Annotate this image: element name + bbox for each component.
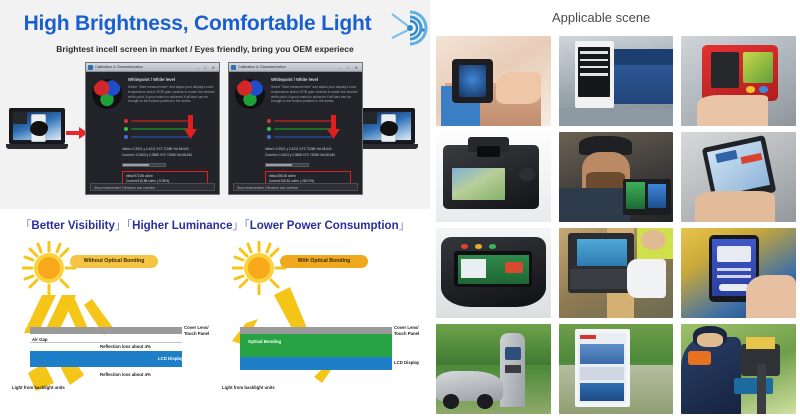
calibration-screenshot-1: Calibration & Characterization ‒ □ ✕ Whi… [85,62,220,195]
label-cover-lens-line1: Cover Lens/ [394,325,419,330]
readout-line-1: Initial x 0.3921 y 0.4211 XYZ 72086 %A 6… [122,147,216,152]
laptop-screen-blob-graphic [380,121,398,136]
diagram-with-optical-bonding: With Optical Bonding Cover Lens/ Touch P… [218,239,423,414]
window-controls: ‒ □ ✕ [340,65,360,70]
benefit-band-titles: 「Better Visibility」「Higher Luminance」「Lo… [0,217,430,233]
air-gap-line [30,342,182,343]
red-slider-bar [131,120,189,122]
red-slider-dot [124,119,128,123]
label-with-optical-bonding: With Optical Bonding [280,255,368,268]
photo-outdoor-digital-signage[interactable] [559,324,674,414]
label-lcd-display: LCD Display [394,360,419,365]
applicable-scene-column: Applicable scene [430,0,800,419]
blue-slider [267,135,333,139]
label-lcd-display: LCD Display [158,356,183,361]
readout-line-2: Current x 0.3403 y 0.3588 XYZ 72086 %A 6… [122,153,216,158]
readout-line-1: Initial x 0.3921 y 0.4211 XYZ 72086 %A 6… [265,147,359,152]
label-optical-bonding: Optical Bonding [248,339,281,344]
benefit-label-higher-luminance: Higher Luminance [132,220,232,232]
page-subtitle: Brightest incell screen in market / Eyes… [0,44,410,54]
sun-icon [22,241,76,295]
laptop-illustration-right [356,108,418,154]
label-cover-lens-line1: Cover Lens/ [184,325,209,330]
label-air-gap: Air Gap [32,337,48,342]
measurement-progress-bar [265,163,309,167]
blue-slider-bar [274,136,332,138]
page-title: High Brightness, Comfortable Light [0,12,395,36]
screenshot-body-text: Select "Start measurement" and adjust yo… [128,85,216,104]
label-reflection-loss-bottom: Reflection loss about 4% [100,372,151,377]
laptop-illustration-left [6,108,68,154]
photo-handheld-thermal-imager[interactable] [681,36,796,126]
optical-bonding-section: 「Better Visibility」「Higher Luminance」「Lo… [0,209,430,419]
label-light-from-backlight: Light from backlight units [222,385,275,390]
photo-surveying-total-station[interactable] [681,324,796,414]
bracket-close-2: 」 [232,220,244,232]
bracket-open-1: 「 [20,220,32,232]
red-slider-bar [274,120,332,122]
green-slider [124,127,190,131]
blue-slider-dot [267,135,271,139]
down-arrow-icon [184,115,197,139]
laptop-base [6,144,68,149]
green-slider-bar [274,128,332,130]
blue-slider-dot [124,135,128,139]
screenshot-footer-buttons: Stop measurement | Measure and continue [90,183,215,191]
layer-cover-lens-touch-panel [30,327,182,334]
section-title-applicable-scene: Applicable scene [552,10,650,25]
screenshot-heading: Whitepoint / White level [271,77,357,82]
photo-industrial-crane-remote-control[interactable] [559,228,674,318]
rgb-color-wheel-icon [92,79,122,109]
photo-rugged-handheld-terminal[interactable] [681,132,796,222]
photo-ev-charging-station[interactable] [436,324,551,414]
label-without-optical-bonding: Without Optical Bonding [70,255,158,268]
benefit-label-better-visibility: Better Visibility [31,220,115,232]
bracket-close-3: 」 [399,220,411,232]
left-column: High Brightness, Comfortable Light Brigh… [0,0,430,419]
blue-slider [124,135,190,139]
screenshot-footer-buttons: Stop measurement | Measure and continue [233,183,358,191]
high-brightness-section: High Brightness, Comfortable Light Brigh… [0,0,430,209]
green-slider-dot [124,127,128,131]
label-cover-lens-line2: Touch Panel [184,331,209,336]
photo-smartphone-payment-terminal[interactable] [681,228,796,318]
readout-line-2: Current x 0.3403 y 0.3588 XYZ 72086 %A 6… [265,153,359,158]
blue-slider-bar [131,136,189,138]
measurement-progress-bar [122,163,166,167]
red-slider-dot [267,119,271,123]
window-controls: ‒ □ ✕ [197,65,217,70]
green-slider-bar [131,128,189,130]
laptop-screen-corner-panel [363,112,377,124]
label-light-from-backlight: Light from backlight units [12,385,65,390]
laptop-screen-corner-panel [13,112,27,124]
red-slider [124,119,190,123]
red-slider [267,119,333,123]
down-arrow-icon [327,115,340,139]
layer-lcd-display [240,357,392,370]
photo-smartwatch-on-wrist[interactable] [436,36,551,126]
label-reflection-loss-top: Reflection loss about 4% [100,344,151,349]
product-feature-page: High Brightness, Comfortable Light Brigh… [0,0,800,419]
benefit-label-lower-power: Lower Power Consumption [250,220,399,232]
bracket-close-1: 」 [115,220,127,232]
scene-photo-grid [436,36,796,414]
green-slider [267,127,333,131]
photo-technician-rugged-tablet[interactable] [559,132,674,222]
calibration-screenshot-2: Calibration & Characterization ‒ □ ✕ Whi… [228,62,363,195]
laptop-base [356,144,418,149]
rgb-color-wheel-icon [235,79,265,109]
label-cover-lens-line2: Touch Panel [394,331,419,336]
photo-motorcycle-dashboard[interactable] [436,228,551,318]
signal-waves-icon [388,8,432,48]
laptop-screen [359,108,415,144]
layer-optical-bonding [240,334,392,357]
screenshot-heading: Whitepoint / White level [128,77,214,82]
diagram-without-optical-bonding: Without Optical Bonding Cover Lens/ [8,239,213,414]
photo-dslr-camera-rear-screen[interactable] [436,132,551,222]
layer-cover-lens-touch-panel [240,327,392,334]
screenshot-body-text: Select "Start measurement" and adjust yo… [271,85,359,104]
photo-bus-stop-information-kiosk[interactable] [559,36,674,126]
laptop-screen [9,108,65,144]
laptop-screen-blob-graphic [30,121,48,136]
green-slider-dot [267,127,271,131]
